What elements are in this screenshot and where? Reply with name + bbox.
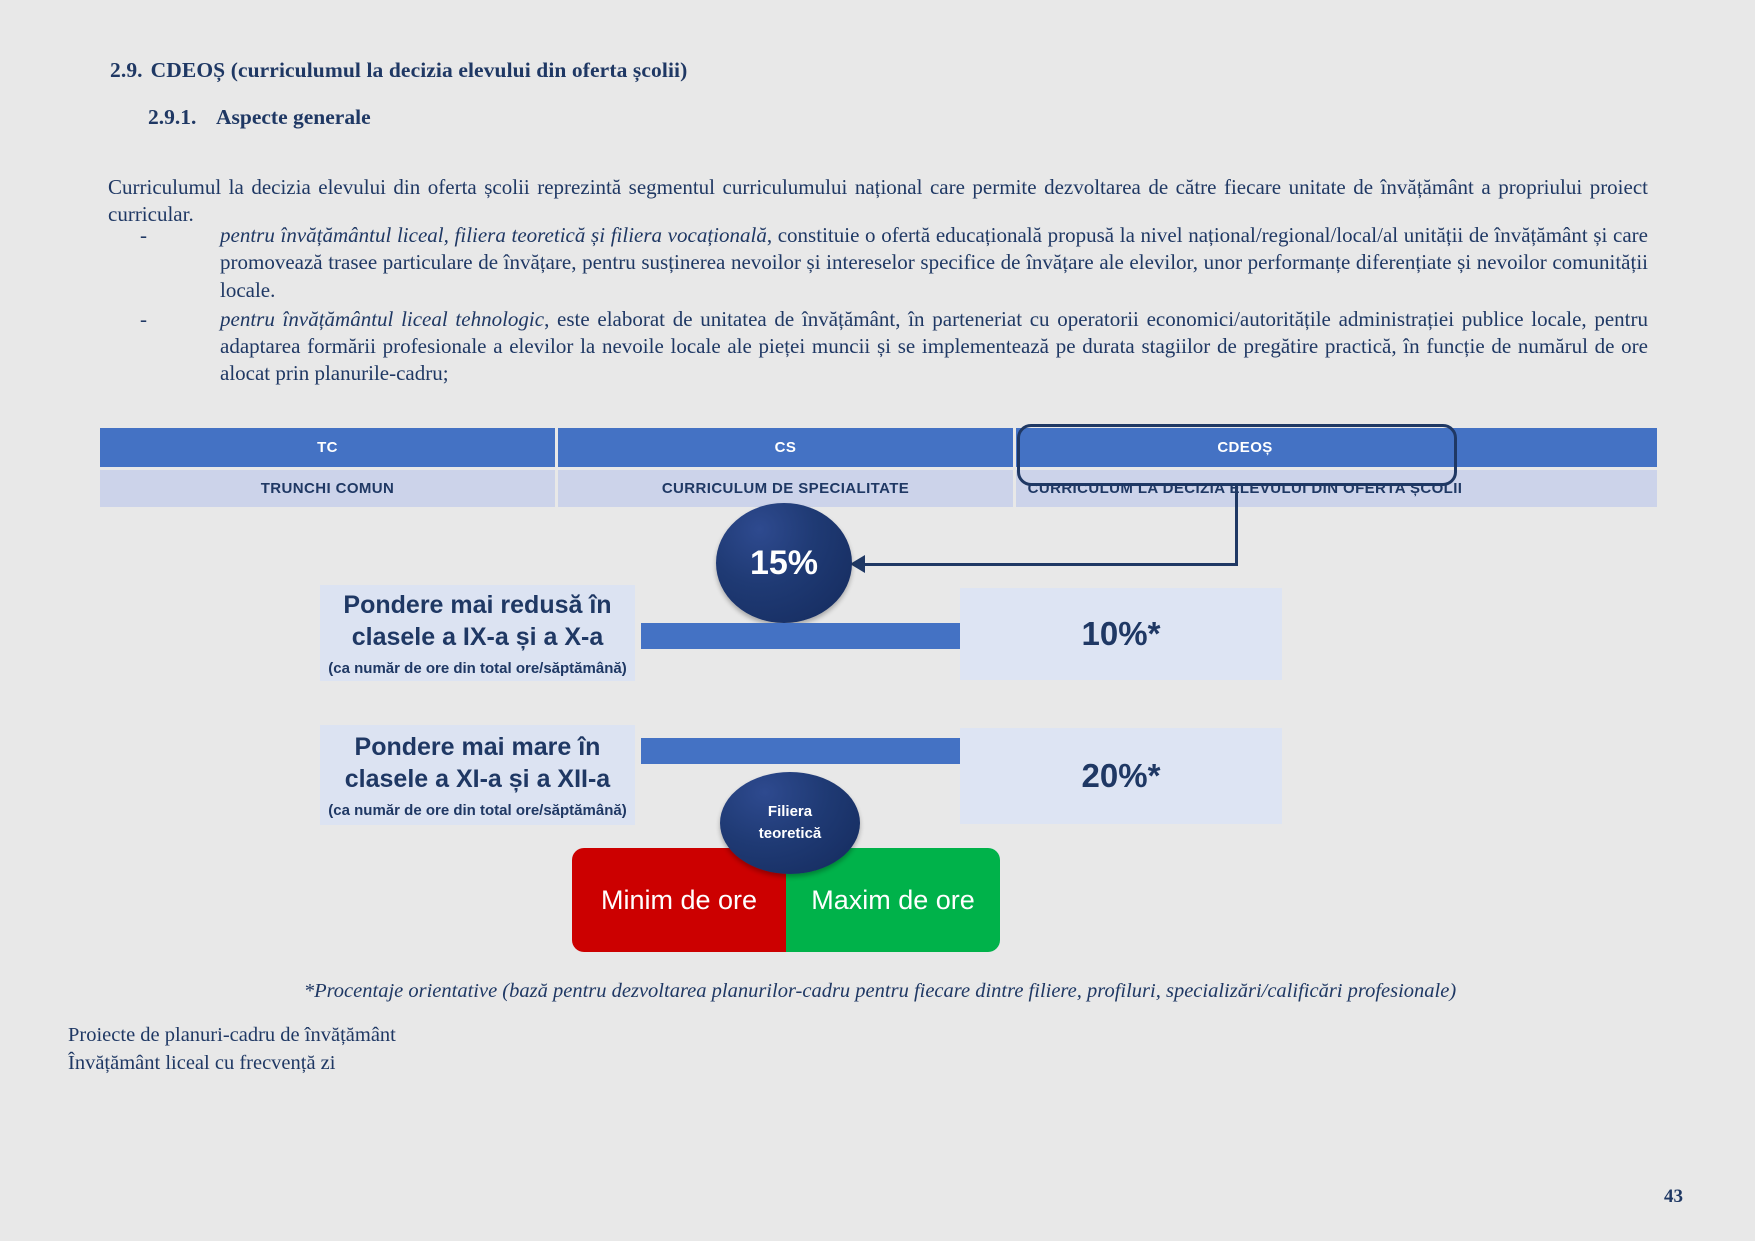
percent-value-row2: 20%* [1082, 757, 1161, 795]
arrow-icon-row1 [641, 613, 1003, 659]
subsection-title: Aspecte generale [216, 105, 371, 129]
table-cell-cs-full: CURRICULUM DE SPECIALITATE [558, 470, 1016, 507]
list-item: -pentru învățământul liceal, filiera teo… [108, 222, 1648, 304]
bullet-italic-lead: pentru învățământul liceal tehnologic [220, 307, 544, 331]
bullet-italic-lead: pentru învățământul liceal, filiera teor… [220, 223, 767, 247]
document-page: 2.9.CDEOȘ (curriculumul la decizia elevu… [0, 0, 1755, 1241]
weight-box-upper-grades: Pondere mai mare în clasele a XI-a și a … [320, 725, 635, 825]
table-cell-spacer [1474, 428, 1657, 467]
connector-horizontal-line [862, 563, 1238, 566]
weight-box-title-line2: clasele a IX-a și a X-a [352, 621, 604, 653]
arrow-shaft [641, 623, 971, 649]
maxim-label: Maxim de ore [811, 885, 975, 916]
table-row: TC CS CDEOȘ [100, 428, 1657, 467]
weight-box-lower-grades: Pondere mai redusă în clasele a IX-a și … [320, 585, 635, 681]
weight-box-subtitle: (ca număr de ore din total ore/săptămână… [328, 660, 626, 677]
bullet-dash: - [140, 306, 147, 333]
list-item: -pentru învățământul liceal tehnologic, … [108, 306, 1648, 388]
arrow-icon-row2 [641, 728, 1003, 774]
intro-paragraph: Curriculumul la decizia elevului din ofe… [108, 174, 1648, 229]
table-row: TRUNCHI COMUN CURRICULUM DE SPECIALITATE… [100, 470, 1657, 507]
filiera-label-line1: Filiera [768, 801, 812, 823]
table-cell-tc-full: TRUNCHI COMUN [100, 470, 558, 507]
percent-value-box-row2: 20%* [960, 728, 1282, 824]
weight-box-title-line1: Pondere mai redusă în [343, 589, 611, 621]
percent-value-box-row1: 10%* [960, 588, 1282, 680]
footer-line1: Proiecte de planuri-cadru de învățământ [68, 1022, 396, 1050]
filiera-label-line2: teoretică [759, 823, 822, 845]
page-footer: Proiecte de planuri-cadru de învățământ … [68, 1022, 396, 1077]
footer-line2: Învățământ liceal cu frecvență zi [68, 1050, 396, 1078]
connector-vertical-line [1235, 486, 1238, 566]
subsection-number: 2.9.1. [148, 105, 216, 130]
bullet-dash: - [140, 222, 147, 249]
table-cell-spacer [1474, 470, 1657, 507]
minim-label: Minim de ore [601, 885, 757, 916]
weight-box-subtitle: (ca număr de ore din total ore/săptămână… [328, 802, 626, 819]
section-heading: 2.9.CDEOȘ (curriculumul la decizia elevu… [110, 58, 687, 83]
weight-box-title-line1: Pondere mai mare în [355, 731, 601, 763]
section-title: CDEOȘ (curriculumul la decizia elevului … [151, 58, 688, 82]
percent-circle-label: 15% [750, 544, 818, 583]
percent-value-row1: 10%* [1082, 615, 1161, 653]
table-cell-cdeos-abbrev: CDEOȘ [1016, 428, 1474, 467]
bullet-list: -pentru învățământul liceal, filiera teo… [108, 222, 1648, 390]
page-number: 43 [1664, 1186, 1683, 1208]
footnote: *Procentaje orientative (bază pentru dez… [230, 980, 1530, 1003]
subsection-heading: 2.9.1.Aspecte generale [148, 105, 371, 130]
percent-circle: 15% [716, 503, 852, 623]
connector-arrowhead-icon [850, 555, 865, 573]
weight-box-title-line2: clasele a XI-a și a XII-a [345, 763, 610, 795]
filiera-teoretica-circle: Filiera teoretică [720, 772, 860, 874]
section-number: 2.9. [110, 58, 143, 82]
table-cell-cs-abbrev: CS [558, 428, 1016, 467]
curriculum-table: TC CS CDEOȘ TRUNCHI COMUN CURRICULUM DE … [100, 428, 1657, 507]
arrow-shaft [641, 738, 971, 764]
table-cell-tc-abbrev: TC [100, 428, 558, 467]
table-cell-cdeos-full: CURRICULUM LA DECIZIA ELEVULUI DIN OFERT… [1016, 470, 1474, 507]
